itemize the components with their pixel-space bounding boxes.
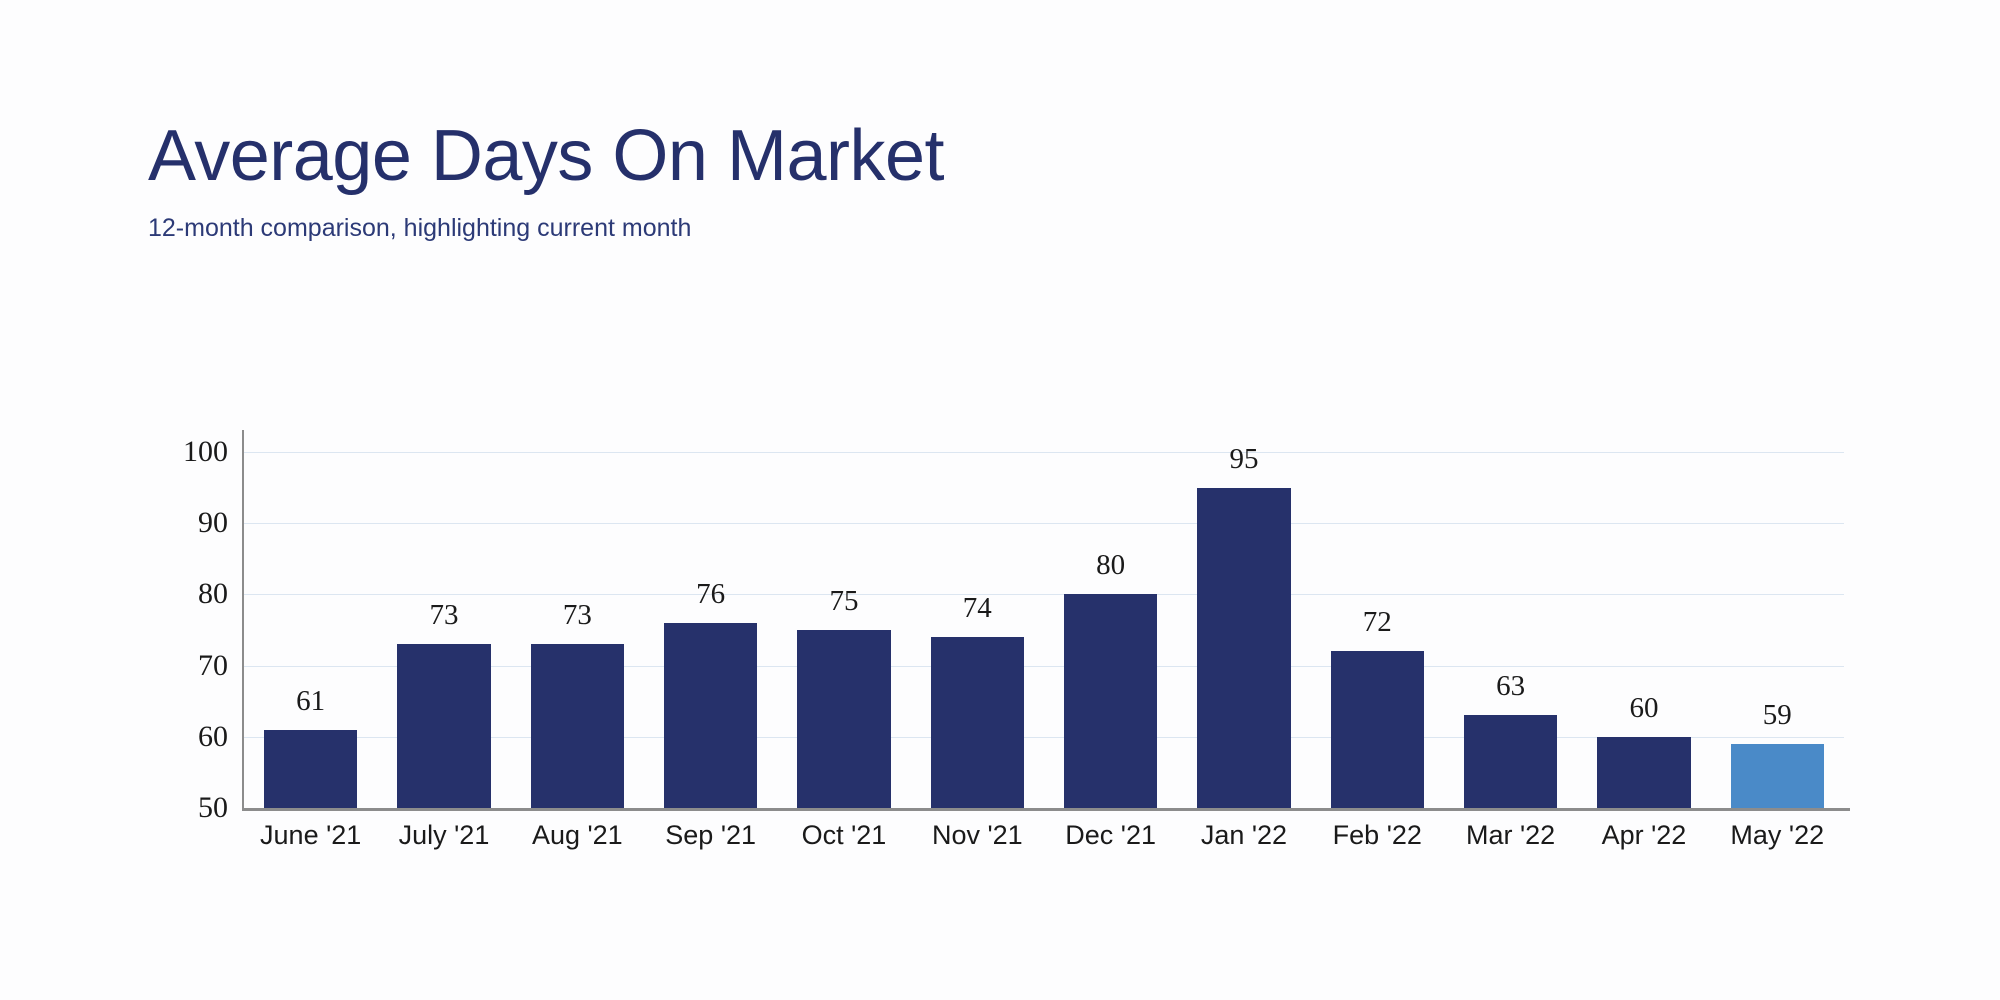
bar-value-label: 61 [244, 687, 377, 716]
bar[interactable] [931, 637, 1024, 808]
bar-value-label: 73 [511, 601, 644, 630]
x-tick-label: June '21 [244, 820, 377, 851]
y-tick-label: 50 [198, 791, 228, 825]
bar-series: 617373767574809572636059 [244, 452, 1844, 808]
page-title: Average Days On Market [148, 118, 1648, 196]
bar-slot[interactable]: 59 [1711, 452, 1844, 808]
x-tick-label: Dec '21 [1044, 820, 1177, 851]
bar[interactable] [797, 630, 890, 808]
bar[interactable] [1597, 737, 1690, 808]
bar-slot[interactable]: 74 [911, 452, 1044, 808]
chart-page: Average Days On Market 12-month comparis… [0, 0, 2000, 1000]
bar-value-label: 59 [1711, 701, 1844, 730]
bar-slot[interactable]: 72 [1311, 452, 1444, 808]
x-tick-label: Oct '21 [777, 820, 910, 851]
bar[interactable] [531, 644, 624, 808]
y-tick-label: 90 [198, 506, 228, 540]
bar-slot[interactable]: 80 [1044, 452, 1177, 808]
bar-slot[interactable]: 73 [377, 452, 510, 808]
bar[interactable] [264, 730, 357, 808]
y-axis: 5060708090100 [150, 430, 238, 810]
bar-chart: 5060708090100 617373767574809572636059 J… [150, 430, 1870, 850]
x-tick-label: July '21 [377, 820, 510, 851]
x-tick-label: Feb '22 [1311, 820, 1444, 851]
y-tick-label: 100 [183, 435, 228, 469]
bar-highlighted[interactable] [1731, 744, 1824, 808]
bar-slot[interactable]: 95 [1177, 452, 1310, 808]
bar[interactable] [397, 644, 490, 808]
bar-value-label: 75 [777, 587, 910, 616]
y-tick-label: 70 [198, 649, 228, 683]
bar[interactable] [1197, 488, 1290, 808]
x-tick-label: Sep '21 [644, 820, 777, 851]
bar-slot[interactable]: 60 [1577, 452, 1710, 808]
bar-value-label: 95 [1177, 445, 1310, 474]
x-tick-label: Nov '21 [911, 820, 1044, 851]
x-tick-label: Jan '22 [1177, 820, 1310, 851]
x-tick-label: Aug '21 [511, 820, 644, 851]
bar[interactable] [1464, 715, 1557, 808]
bar-value-label: 74 [911, 594, 1044, 623]
bar-value-label: 76 [644, 580, 777, 609]
bar-value-label: 60 [1577, 694, 1710, 723]
x-tick-label: Apr '22 [1577, 820, 1710, 851]
bar[interactable] [664, 623, 757, 808]
bar[interactable] [1331, 651, 1424, 808]
bar-slot[interactable]: 73 [511, 452, 644, 808]
y-tick-label: 80 [198, 577, 228, 611]
y-tick-label: 60 [198, 720, 228, 754]
bar-slot[interactable]: 76 [644, 452, 777, 808]
x-axis: June '21July '21Aug '21Sep '21Oct '21Nov… [244, 820, 1844, 851]
bar[interactable] [1064, 594, 1157, 808]
bar-slot[interactable]: 63 [1444, 452, 1577, 808]
x-tick-label: Mar '22 [1444, 820, 1577, 851]
x-tick-label: May '22 [1711, 820, 1844, 851]
chart-header: Average Days On Market 12-month comparis… [148, 118, 1648, 243]
x-axis-line [242, 808, 1850, 811]
bar-value-label: 63 [1444, 672, 1577, 701]
bar-value-label: 72 [1311, 608, 1444, 637]
bar-value-label: 80 [1044, 551, 1177, 580]
bar-slot[interactable]: 75 [777, 452, 910, 808]
bar-value-label: 73 [377, 601, 510, 630]
page-subtitle: 12-month comparison, highlighting curren… [148, 214, 1648, 243]
bar-slot[interactable]: 61 [244, 452, 377, 808]
